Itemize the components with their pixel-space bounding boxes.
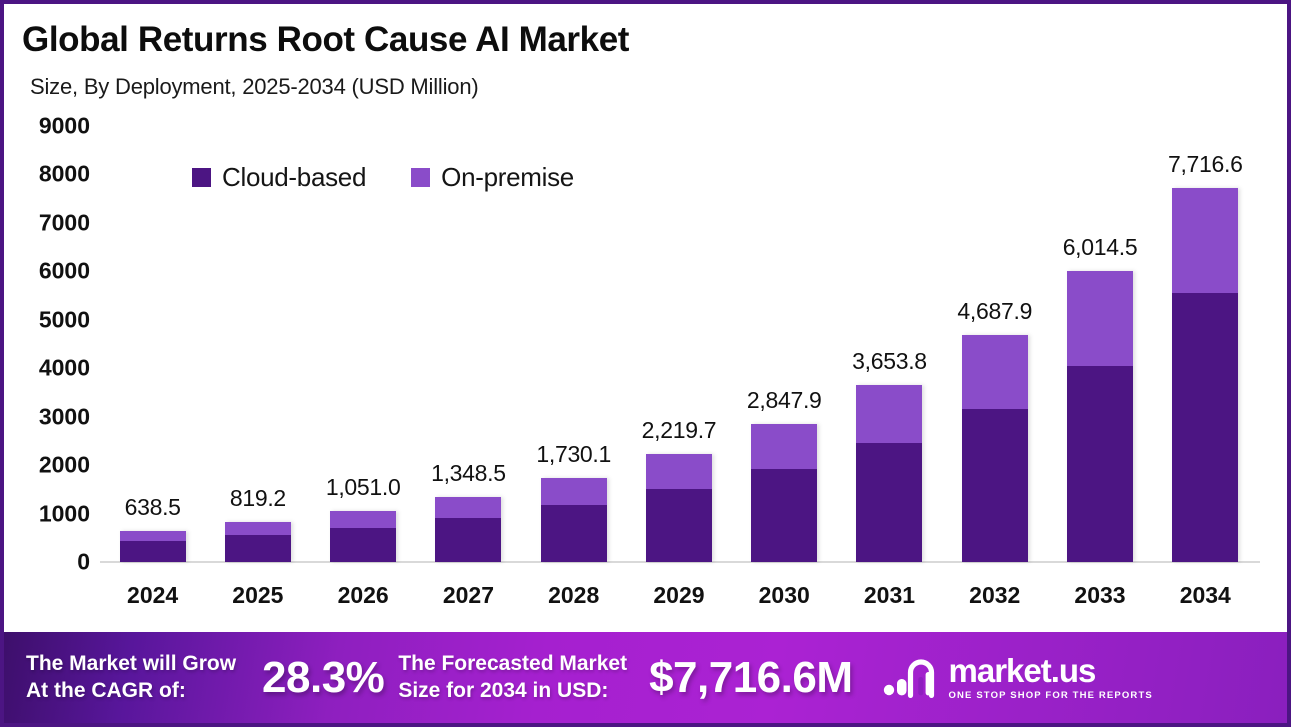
legend-label: Cloud-based [222, 162, 366, 193]
stacked-bar[interactable] [751, 424, 817, 562]
stacked-bar[interactable] [1067, 271, 1133, 562]
stacked-bar[interactable] [435, 497, 501, 562]
y-axis-tick-label: 1000 [39, 500, 90, 527]
x-axis-tick-label: 2031 [837, 582, 942, 609]
x-axis-tick-labels: 2024202520262027202820292030203120322033… [100, 582, 1258, 618]
bar-segment-on-premise[interactable] [225, 522, 291, 535]
bar-group[interactable]: 2,219.7 [626, 126, 731, 562]
bar-segment-cloud-based[interactable] [751, 469, 817, 562]
bar-segment-on-premise[interactable] [330, 511, 396, 527]
legend-color-swatch [411, 168, 430, 187]
bar-value-label: 2,219.7 [642, 417, 717, 444]
bar-segment-cloud-based[interactable] [962, 409, 1028, 562]
brand-tagline: ONE STOP SHOP FOR THE REPORTS [949, 690, 1153, 701]
forecast-size-label: The Forecasted Market Size for 2034 in U… [398, 651, 627, 705]
cagr-value: 28.3% [262, 653, 384, 703]
bar-segment-on-premise[interactable] [1172, 188, 1238, 293]
page-title: Global Returns Root Cause AI Market [22, 20, 629, 60]
x-axis-tick-label: 2025 [205, 582, 310, 609]
bar-group[interactable]: 7,716.6 [1153, 126, 1258, 562]
chart-legend: Cloud-basedOn-premise [192, 162, 574, 193]
market-us-logo-icon [883, 657, 939, 699]
stacked-bar[interactable] [962, 335, 1028, 562]
bar-value-label: 819.2 [230, 485, 286, 512]
stacked-bar[interactable] [646, 454, 712, 562]
bar-value-label: 1,348.5 [431, 460, 506, 487]
bar-value-label: 2,847.9 [747, 387, 822, 414]
cagr-label: The Market will Grow At the CAGR of: [26, 651, 236, 705]
chart-subtitle: Size, By Deployment, 2025-2034 (USD Mill… [30, 74, 479, 100]
x-axis-tick-label: 2034 [1153, 582, 1258, 609]
stacked-bar[interactable] [1172, 188, 1238, 562]
bar-value-label: 638.5 [125, 494, 181, 521]
bar-segment-on-premise[interactable] [856, 385, 922, 443]
y-axis-tick-label: 5000 [39, 306, 90, 333]
bar-segment-on-premise[interactable] [541, 478, 607, 505]
legend-item[interactable]: On-premise [411, 162, 574, 193]
x-axis-tick-label: 2030 [732, 582, 837, 609]
x-axis-tick-label: 2026 [311, 582, 416, 609]
stacked-bar[interactable] [330, 511, 396, 562]
x-axis-tick-label: 2028 [521, 582, 626, 609]
y-axis-tick-label: 0 [77, 549, 90, 576]
x-axis-tick-label: 2027 [416, 582, 521, 609]
stacked-bar[interactable] [120, 531, 186, 562]
x-axis-tick-label: 2024 [100, 582, 205, 609]
bar-segment-cloud-based[interactable] [435, 518, 501, 562]
bar-segment-on-premise[interactable] [1067, 271, 1133, 366]
x-axis-tick-label: 2033 [1047, 582, 1152, 609]
y-axis-tick-label: 2000 [39, 452, 90, 479]
bar-segment-cloud-based[interactable] [330, 528, 396, 562]
y-axis-tick-label: 4000 [39, 355, 90, 382]
x-axis-tick-label: 2032 [942, 582, 1047, 609]
bar-segment-cloud-based[interactable] [856, 443, 922, 562]
bar-value-label: 4,687.9 [957, 298, 1032, 325]
legend-color-swatch [192, 168, 211, 187]
y-axis-tick-label: 8000 [39, 161, 90, 188]
bar-value-label: 7,716.6 [1168, 151, 1243, 178]
stacked-bar[interactable] [225, 522, 291, 562]
stacked-bar[interactable] [856, 385, 922, 562]
bar-segment-cloud-based[interactable] [1067, 366, 1133, 562]
brand-text: market.us ONE STOP SHOP FOR THE REPORTS [949, 654, 1153, 701]
chart-card: Global Returns Root Cause AI Market Size… [0, 0, 1291, 727]
bar-value-label: 1,051.0 [326, 474, 401, 501]
bar-segment-cloud-based[interactable] [120, 541, 186, 562]
bar-segment-cloud-based[interactable] [1172, 293, 1238, 562]
bar-group[interactable]: 2,847.9 [732, 126, 837, 562]
y-axis: 9000800070006000500040003000200010000 [4, 126, 90, 562]
brand-name: market.us [949, 654, 1153, 687]
bar-segment-cloud-based[interactable] [646, 489, 712, 562]
bar-segment-on-premise[interactable] [120, 531, 186, 541]
footer-banner: The Market will Grow At the CAGR of: 28.… [4, 632, 1287, 723]
bar-group[interactable]: 638.5 [100, 126, 205, 562]
y-axis-tick-label: 7000 [39, 209, 90, 236]
bar-segment-cloud-based[interactable] [541, 505, 607, 562]
bar-value-label: 1,730.1 [536, 441, 611, 468]
brand-logo[interactable]: market.us ONE STOP SHOP FOR THE REPORTS [883, 654, 1153, 701]
bar-segment-on-premise[interactable] [435, 497, 501, 518]
x-axis-tick-label: 2029 [626, 582, 731, 609]
bar-group[interactable]: 3,653.8 [837, 126, 942, 562]
bar-segment-on-premise[interactable] [646, 454, 712, 489]
legend-label: On-premise [441, 162, 574, 193]
bar-group[interactable]: 4,687.9 [942, 126, 1047, 562]
y-axis-tick-label: 3000 [39, 403, 90, 430]
bar-group[interactable]: 6,014.5 [1047, 126, 1152, 562]
y-axis-tick-label: 9000 [39, 113, 90, 140]
y-axis-tick-label: 6000 [39, 258, 90, 285]
bar-segment-cloud-based[interactable] [225, 535, 291, 562]
bar-segment-on-premise[interactable] [751, 424, 817, 469]
legend-item[interactable]: Cloud-based [192, 162, 366, 193]
bar-value-label: 6,014.5 [1063, 234, 1138, 261]
stacked-bar[interactable] [541, 478, 607, 562]
bar-value-label: 3,653.8 [852, 348, 927, 375]
bar-segment-on-premise[interactable] [962, 335, 1028, 409]
forecast-size-value: $7,716.6M [649, 653, 852, 703]
